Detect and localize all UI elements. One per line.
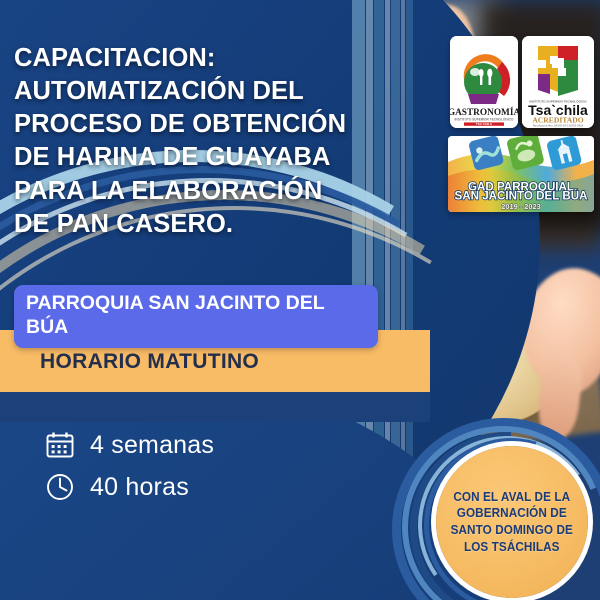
title-line-4: DE HARINA DE GUAYABA	[14, 141, 364, 174]
clock-icon	[44, 471, 76, 503]
svg-text:TSA`CHILA: TSA`CHILA	[476, 122, 493, 126]
duration-info: 4 semanas 40 horas	[44, 424, 214, 508]
title-line-3: PROCESO DE OBTENCIÓN	[14, 108, 364, 141]
parroquia-badge: PARROQUIA SAN JACINTO DEL BÚA	[14, 285, 378, 348]
seal-line-3: SANTO DOMINGO DE	[451, 522, 573, 539]
title-line-2: AUTOMATIZACIÓN DEL	[14, 75, 364, 108]
logo-gastronomia: GASTRONOMÍA INSTITUTO SUPERIOR TECNOLÓGI…	[450, 36, 518, 128]
svg-text:Resolución Nro. 06-SO-03-CACES: Resolución Nro. 06-SO-03-CACES-2019	[533, 124, 584, 128]
title-line-5: PARA LA ELABORACIÓN	[14, 175, 364, 208]
svg-text:GASTRONOMÍA: GASTRONOMÍA	[450, 106, 518, 118]
duration-hours-value: 40 horas	[90, 473, 189, 502]
svg-text:ACREDITADO: ACREDITADO	[532, 116, 583, 125]
promotional-flyer: CAPACITACION: AUTOMATIZACIÓN DEL PROCESO…	[0, 0, 600, 600]
seal-line-4: LOS TSÁCHILAS	[451, 539, 573, 556]
logo-tsachila: INSTITUTO SUPERIOR TECNOLÓGICO Tsa`chila…	[522, 36, 594, 128]
title-line-1: CAPACITACION:	[14, 42, 364, 75]
duration-weeks-value: 4 semanas	[90, 431, 214, 460]
svg-text:INSTITUTO SUPERIOR TECNOLÓGICO: INSTITUTO SUPERIOR TECNOLÓGICO	[455, 116, 514, 121]
page-title: CAPACITACION: AUTOMATIZACIÓN DEL PROCESO…	[14, 42, 364, 241]
seal-circle: CON EL AVAL DE LA GOBERNACIÓN DE SANTO D…	[436, 446, 588, 598]
gastronomia-mark: GASTRONOMÍA INSTITUTO SUPERIOR TECNOLÓGI…	[450, 36, 518, 128]
logo-gad-parroquial: GAD PARROQUIAL SAN JACINTO DEL BÚA 2019 …	[448, 136, 594, 212]
navy-strip	[0, 392, 430, 422]
seal-text: CON EL AVAL DE LA GOBERNACIÓN DE SANTO D…	[451, 489, 573, 556]
schedule-label: HORARIO MATUTINO	[40, 350, 259, 374]
endorsement-seal: CON EL AVAL DE LA GOBERNACIÓN DE SANTO D…	[398, 432, 600, 600]
seal-line-1: CON EL AVAL DE LA	[451, 489, 573, 506]
duration-row-hours: 40 horas	[44, 466, 214, 508]
parroquia-label: PARROQUIA SAN JACINTO DEL BÚA	[26, 292, 324, 338]
title-line-6: DE PAN CASERO.	[14, 208, 364, 241]
seal-line-2: GOBERNACIÓN DE	[451, 505, 573, 522]
svg-text:2019 - 2023: 2019 - 2023	[501, 202, 540, 211]
duration-row-weeks: 4 semanas	[44, 424, 214, 466]
gad-parroquial-mark: GAD PARROQUIAL SAN JACINTO DEL BÚA 2019 …	[448, 136, 594, 212]
tsachila-mark: INSTITUTO SUPERIOR TECNOLÓGICO Tsa`chila…	[522, 36, 594, 128]
svg-text:SAN JACINTO DEL BÚA: SAN JACINTO DEL BÚA	[455, 190, 589, 203]
calendar-icon	[44, 429, 76, 461]
